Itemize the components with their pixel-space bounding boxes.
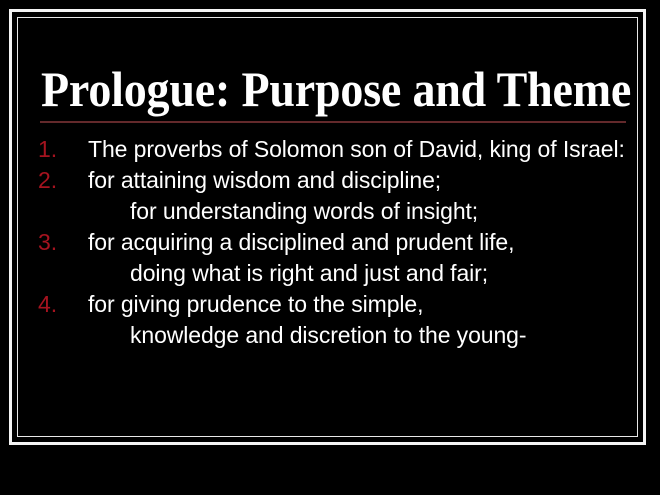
list-item: 1. The proverbs of Solomon son of David,… — [38, 134, 634, 165]
list-item-subline: doing what is right and just and fair; — [88, 258, 634, 289]
page-title: Prologue: Purpose and Theme — [41, 62, 584, 116]
list-item-line: for giving prudence to the simple, — [88, 289, 634, 320]
list-item: 2. for attaining wisdom and discipline; … — [38, 165, 634, 227]
list-item-number: 3. — [38, 227, 72, 258]
slide: Prologue: Purpose and Theme 1. The prove… — [0, 0, 660, 495]
list-item: 3. for acquiring a disciplined and prude… — [38, 227, 634, 289]
slide-content: Prologue: Purpose and Theme 1. The prove… — [0, 0, 660, 495]
list-item-subline: for understanding words of insight; — [88, 196, 634, 227]
list-item-subline: knowledge and discretion to the young- — [88, 320, 634, 351]
list-item-number: 4. — [38, 289, 72, 320]
list-item: 4. for giving prudence to the simple, kn… — [38, 289, 634, 351]
list-item-line: The proverbs of Solomon son of David, ki… — [88, 134, 634, 165]
list-item-line: for acquiring a disciplined and prudent … — [88, 227, 634, 258]
list-item-number: 1. — [38, 134, 72, 165]
list-item-line: for attaining wisdom and discipline; — [88, 165, 634, 196]
list-item-number: 2. — [38, 165, 72, 196]
numbered-list: 1. The proverbs of Solomon son of David,… — [38, 134, 634, 351]
title-divider-rule — [40, 121, 626, 123]
